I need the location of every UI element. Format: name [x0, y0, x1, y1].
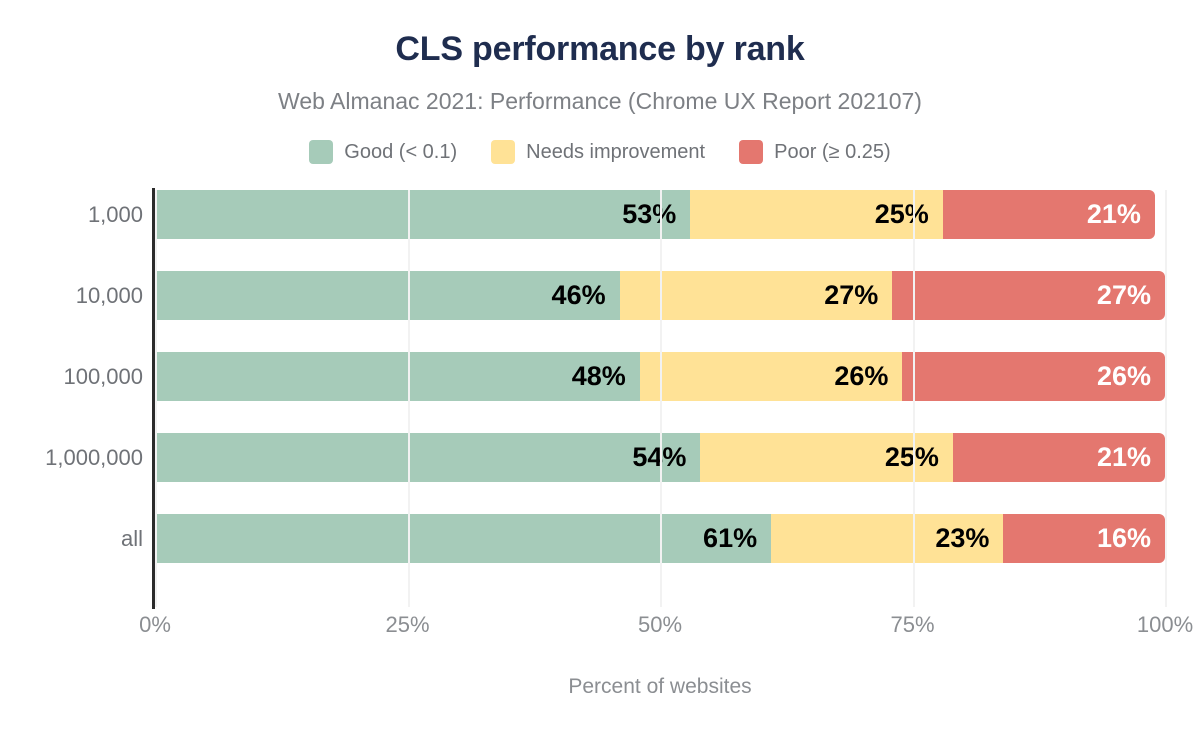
bar-segment-good[interactable]: 53% [155, 190, 690, 239]
table-row[interactable]: 61% 23% 16% [155, 514, 1165, 563]
bar-segment-needs-improvement[interactable]: 25% [700, 433, 953, 482]
bar-segment-needs-improvement[interactable]: 26% [640, 352, 903, 401]
bar-segment-needs-improvement[interactable]: 25% [690, 190, 943, 239]
bar-segment-good[interactable]: 48% [155, 352, 640, 401]
bar-segment-needs-improvement[interactable]: 27% [620, 271, 893, 320]
bar-segment-good[interactable]: 46% [155, 271, 620, 320]
legend-label-good: Good (< 0.1) [344, 141, 457, 164]
legend-swatch-poor [739, 140, 763, 164]
y-tick-label-1: 10,000 [76, 271, 143, 320]
legend-swatch-needs-improvement [491, 140, 515, 164]
table-row[interactable]: 53% 25% 21% [155, 190, 1165, 239]
x-tick-label-75: 75% [890, 612, 934, 638]
bar-rows: 53% 25% 21% 46% 27% 27% 48% 26% 26% 54% … [155, 190, 1165, 607]
chart-figure: CLS performance by rank Web Almanac 2021… [0, 0, 1200, 742]
x-tick-label-25: 25% [385, 612, 429, 638]
bar-segment-poor[interactable]: 16% [1003, 514, 1165, 563]
legend-item-needs-improvement[interactable]: Needs improvement [491, 140, 705, 164]
chart-subtitle: Web Almanac 2021: Performance (Chrome UX… [0, 88, 1200, 115]
legend-item-good[interactable]: Good (< 0.1) [309, 140, 457, 164]
table-row[interactable]: 46% 27% 27% [155, 271, 1165, 320]
x-tick-label-0: 0% [139, 612, 171, 638]
y-tick-label-2: 100,000 [63, 352, 143, 401]
x-tick-label-100: 100% [1137, 612, 1193, 638]
x-axis-title: Percent of websites [155, 675, 1165, 699]
y-axis-tick-labels: 1,000 10,000 100,000 1,000,000 all [0, 190, 143, 607]
x-tick-label-50: 50% [638, 612, 682, 638]
chart-legend: Good (< 0.1) Needs improvement Poor (≥ 0… [0, 140, 1200, 164]
bar-segment-poor[interactable]: 21% [943, 190, 1155, 239]
plot-area: 53% 25% 21% 46% 27% 27% 48% 26% 26% 54% … [155, 190, 1165, 607]
bar-segment-poor[interactable]: 27% [892, 271, 1165, 320]
y-axis-spine [152, 188, 155, 609]
chart-title: CLS performance by rank [0, 30, 1200, 69]
bar-segment-poor[interactable]: 26% [902, 352, 1165, 401]
bar-segment-poor[interactable]: 21% [953, 433, 1165, 482]
bar-segment-needs-improvement[interactable]: 23% [771, 514, 1003, 563]
gridline-100 [1165, 190, 1167, 607]
y-tick-label-3: 1,000,000 [45, 433, 143, 482]
x-axis-tick-labels: 0% 25% 50% 75% 100% [155, 612, 1165, 642]
y-tick-label-0: 1,000 [88, 190, 143, 239]
legend-item-poor[interactable]: Poor (≥ 0.25) [739, 140, 891, 164]
y-tick-label-4: all [121, 514, 143, 563]
bar-segment-good[interactable]: 61% [155, 514, 771, 563]
bar-segment-good[interactable]: 54% [155, 433, 700, 482]
table-row[interactable]: 54% 25% 21% [155, 433, 1165, 482]
legend-label-poor: Poor (≥ 0.25) [774, 141, 891, 164]
legend-swatch-good [309, 140, 333, 164]
legend-label-needs-improvement: Needs improvement [526, 141, 705, 164]
table-row[interactable]: 48% 26% 26% [155, 352, 1165, 401]
